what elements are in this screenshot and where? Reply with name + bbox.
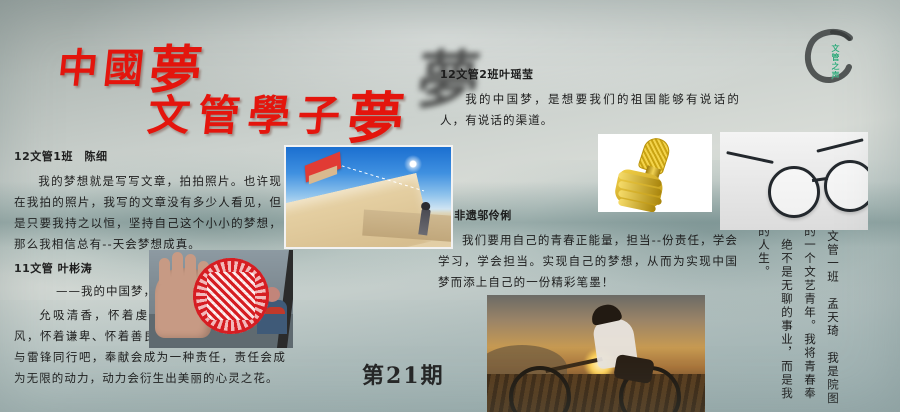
article-a-body-text: 我的梦想就是写写文章，拍拍照片。也许现在我拍的照片，我写的文章没有多少人看见，但… xyxy=(14,174,282,251)
poster-canvas: 夢 中國夢 文管學子夢 文管之声 12文管1班 陈细 我的梦想就是写写文章，拍拍… xyxy=(0,0,900,412)
glasses-temple-left xyxy=(726,151,774,164)
hand-holding-red-papercut-photo xyxy=(149,250,293,348)
article-c-body-text: 我的中国梦，是想要我们的祖国能够有说话的人，有说话的渠道。 xyxy=(440,92,740,127)
article-a-heading: 12文管1班 陈细 xyxy=(14,148,282,164)
desert-kite-photo xyxy=(284,145,453,249)
article-block-c: 12文管2班叶瑶莹 我的中国梦，是想要我们的祖国能够有说话的人，有说话的渠道。 xyxy=(440,66,740,131)
finger-2 xyxy=(172,252,183,284)
glasses-temple-right xyxy=(816,138,863,153)
finger-3 xyxy=(185,254,196,284)
glasses-lens-right xyxy=(824,160,868,212)
red-papercut-disc xyxy=(193,258,269,334)
cyclist-at-sunset-photo xyxy=(487,295,705,412)
round-eyeglasses-photo xyxy=(720,132,868,230)
article-block-a: 12文管1班 陈细 我的梦想就是写写文章，拍拍照片。也许现在我拍的照片，我写的文… xyxy=(14,148,282,255)
red-cap-shape xyxy=(265,307,285,314)
glasses-lens-left xyxy=(768,166,820,218)
poster-title: 夢 中國夢 文管學子夢 xyxy=(40,14,470,124)
ring-logo-text: 文管之声 xyxy=(824,44,840,80)
title-line-2-big: 夢 xyxy=(344,86,415,152)
article-d-body-text: 我们要用自己的青春正能量，担当--份责任，学会学习，学会担当。实现自己的梦想，从… xyxy=(438,233,738,289)
article-d-body: 我们要用自己的青春正能量，担当--份责任，学会学习，学会担当。实现自己的梦想，从… xyxy=(438,230,738,293)
article-c-heading: 12文管2班叶瑶莹 xyxy=(440,66,740,82)
article-block-d: 11非遗邬伶俐 我们要用自己的青春正能量，担当--份责任，学会学习，学会担当。实… xyxy=(438,207,738,293)
article-c-body: 我的中国梦，是想要我们的祖国能够有说话的人，有说话的渠道。 xyxy=(440,89,740,131)
title-line-2: 文管學子夢 xyxy=(144,74,417,155)
title-line-2-text: 文管學子 xyxy=(145,91,350,140)
article-a-body: 我的梦想就是写写文章，拍拍照片。也许现在我拍的照片，我写的文章没有多少人看见，但… xyxy=(14,171,282,255)
brush-ring-logo: 文管之声 xyxy=(800,26,864,88)
issue-number: 第21期 xyxy=(362,358,445,390)
gold-fist-microphone-photo xyxy=(598,134,712,212)
finger-1 xyxy=(159,258,170,284)
title-line-1-text: 中國 xyxy=(55,45,152,92)
